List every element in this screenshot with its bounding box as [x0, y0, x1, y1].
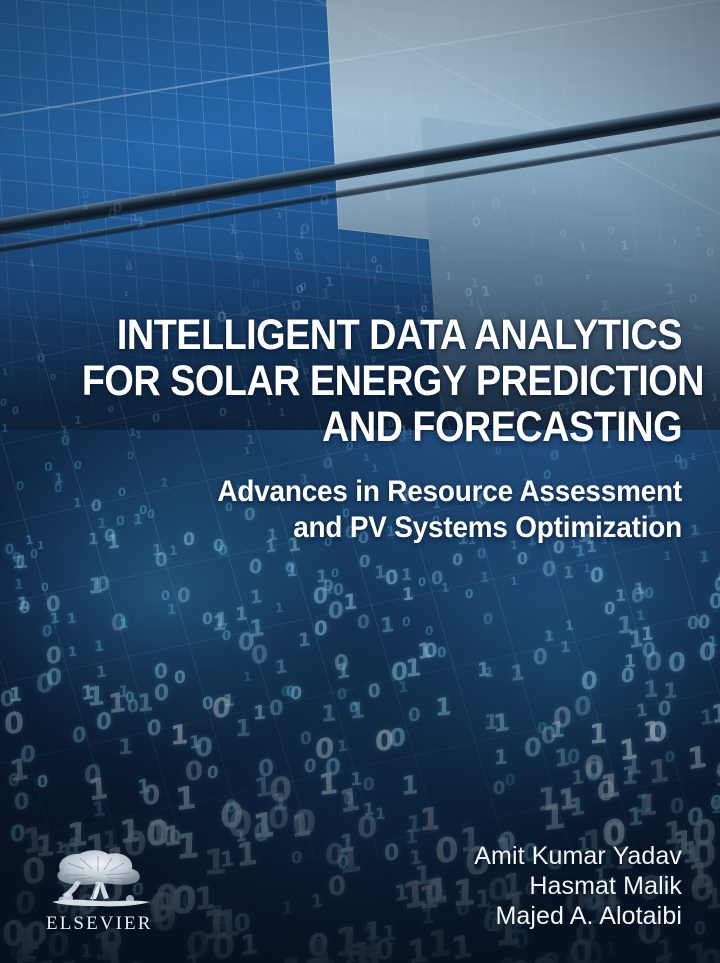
publisher-logo: ELSEVIER: [46, 849, 164, 935]
author-list: Amit Kumar Yadav Hasmat Malik Majed A. A…: [474, 841, 682, 931]
elsevier-wordmark: ELSEVIER: [46, 913, 164, 935]
elsevier-tree-icon: [46, 849, 158, 911]
author-name: Amit Kumar Yadav: [474, 841, 682, 871]
title-block: INTELLIGENT DATA ANALYTICS FOR SOLAR ENE…: [0, 312, 682, 546]
title-line: AND FORECASTING: [82, 404, 682, 450]
author-name: Hasmat Malik: [474, 871, 682, 901]
subtitle: Advances in Resource Assessment and PV S…: [0, 474, 682, 546]
author-name: Majed A. Alotaibi: [474, 901, 682, 931]
title-line: FOR SOLAR ENERGY PREDICTION: [82, 358, 682, 404]
book-cover: 1100101110000101010010000000001110001001…: [0, 0, 720, 963]
page-title: INTELLIGENT DATA ANALYTICS FOR SOLAR ENE…: [0, 312, 682, 450]
subtitle-line: and PV Systems Optimization: [48, 510, 682, 546]
title-line: INTELLIGENT DATA ANALYTICS: [82, 312, 682, 358]
subtitle-line: Advances in Resource Assessment: [48, 474, 682, 510]
